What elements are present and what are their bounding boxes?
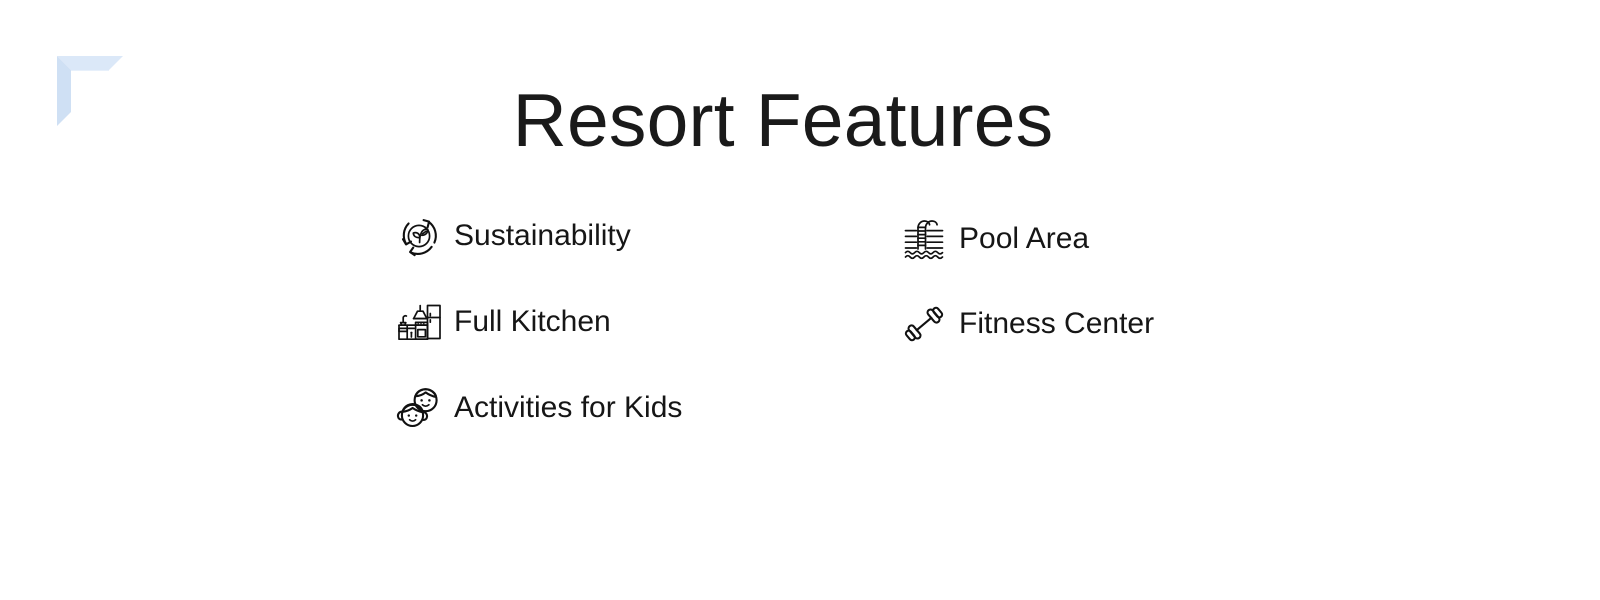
feature-label-activities-for-kids: Activities for Kids <box>454 391 682 425</box>
feature-item-fitness-center[interactable]: Fitness Center <box>897 281 1154 366</box>
page-title: Resort Features <box>0 78 1566 162</box>
feature-item-activities-for-kids[interactable]: Activities for Kids <box>392 368 682 448</box>
feature-label-full-kitchen: Full Kitchen <box>454 305 611 339</box>
sustainability-icon <box>392 209 446 263</box>
feature-item-sustainability[interactable]: Sustainability <box>392 196 682 276</box>
feature-label-sustainability: Sustainability <box>454 219 631 253</box>
feature-item-full-kitchen[interactable]: Full Kitchen <box>392 282 682 362</box>
features-right-column: Pool Area <box>897 196 1154 366</box>
dumbbell-icon <box>897 297 951 351</box>
kids-icon <box>392 381 446 435</box>
features-left-column: Sustainability <box>392 196 682 454</box>
feature-label-pool-area: Pool Area <box>959 222 1089 256</box>
kitchen-icon <box>392 295 446 349</box>
feature-label-fitness-center: Fitness Center <box>959 307 1154 341</box>
features-list: Sustainability <box>0 196 1566 456</box>
pool-ladder-icon <box>897 212 951 266</box>
feature-item-pool-area[interactable]: Pool Area <box>897 196 1154 281</box>
